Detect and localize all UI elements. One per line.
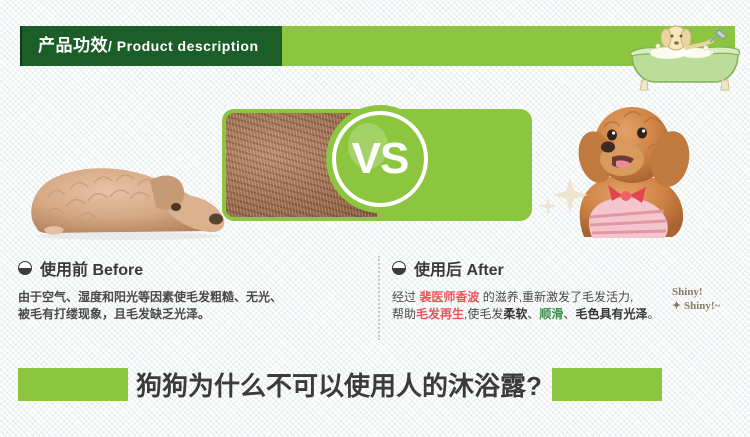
banner-bar-right bbox=[552, 368, 662, 401]
after-line1-pre: 经过 bbox=[392, 290, 419, 304]
brand-name: 裴医师香波 bbox=[419, 290, 479, 304]
after-heading-text: 使用后 After bbox=[414, 256, 504, 280]
before-dog-photo bbox=[18, 123, 238, 243]
page-title-en: / Product description bbox=[108, 38, 259, 54]
page-title: 产品功效/ Product description bbox=[22, 26, 259, 66]
vs-label: VS bbox=[352, 134, 409, 184]
section-banner: 狗狗为什么不可以使用人的沐浴露? bbox=[0, 364, 750, 404]
section-descriptions: 使用前 Before 由于空气、湿度和阳光等因素使毛发粗糙、无光、 被毛有打缕现… bbox=[0, 256, 750, 342]
half-filled-sphere-icon bbox=[18, 261, 32, 275]
after-line2-g: 、 bbox=[563, 307, 575, 321]
header-title-block: 产品功效/ Product description bbox=[22, 26, 282, 66]
banner-bar-left bbox=[18, 368, 128, 401]
column-divider bbox=[378, 256, 380, 340]
before-column: 使用前 Before 由于空气、湿度和阳光等因素使毛发粗糙、无光、 被毛有打缕现… bbox=[18, 256, 368, 323]
banner-title: 狗狗为什么不可以使用人的沐浴露? bbox=[128, 366, 550, 403]
after-text-line-1: 经过 裴医师香波 的滋养,重新激发了毛发活力, bbox=[392, 289, 742, 306]
before-heading-text: 使用前 Before bbox=[40, 256, 143, 280]
after-heading: 使用后 After bbox=[392, 256, 742, 280]
after-column: 使用后 After 经过 裴医师香波 的滋养,重新激发了毛发活力, 帮助毛发再生… bbox=[392, 256, 742, 323]
dog-in-bathtub-icon bbox=[620, 24, 750, 94]
after-line2-b: 毛发再生 bbox=[416, 307, 464, 321]
after-line2-e: 、 bbox=[527, 307, 539, 321]
vs-badge: VS bbox=[332, 111, 428, 207]
sparkle-icon bbox=[536, 175, 596, 225]
after-line2-d: 柔软 bbox=[503, 307, 527, 321]
after-line2-i: 。 bbox=[647, 307, 659, 321]
after-line2-a: 帮助 bbox=[392, 307, 416, 321]
half-filled-sphere-icon bbox=[392, 261, 406, 275]
after-line1-post: 的滋养,重新激发了毛发活力, bbox=[479, 290, 633, 304]
after-line2-h: 毛色具有光泽 bbox=[575, 307, 647, 321]
after-line2-f: 顺滑 bbox=[539, 307, 563, 321]
after-text-line-2: 帮助毛发再生,使毛发柔软、顺滑、毛色具有光泽。 bbox=[392, 306, 742, 323]
before-heading: 使用前 Before bbox=[18, 256, 368, 280]
after-line2-c: ,使毛发 bbox=[464, 307, 503, 321]
page-title-cn: 产品功效 bbox=[38, 36, 108, 55]
before-text-line-2: 被毛有打缕现象，且毛发缺乏光泽。 bbox=[18, 306, 368, 323]
section-header: 产品功效/ Product description bbox=[0, 26, 750, 66]
before-text-line-1: 由于空气、湿度和阳光等因素使毛发粗糙、无光、 bbox=[18, 289, 368, 306]
